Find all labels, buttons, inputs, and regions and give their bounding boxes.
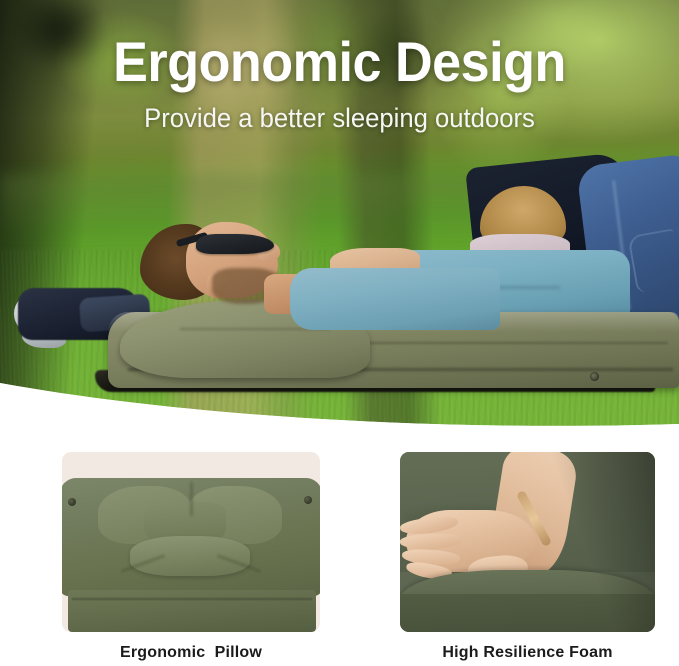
page-title: Ergonomic Design xyxy=(24,34,655,90)
pillow-grommet-left xyxy=(68,498,76,506)
page-subtitle: Provide a better sleeping outdoors xyxy=(17,102,662,134)
pillow-base-seam xyxy=(72,598,312,600)
pillow-grommet-right xyxy=(304,496,312,504)
caption-ergonomic-pillow: Ergonomic Pillow xyxy=(62,640,320,666)
pillow-neck-roll xyxy=(130,536,250,576)
caption-high-resilience-foam: High Resilience Foam xyxy=(400,640,655,666)
pillow-base xyxy=(68,590,316,632)
panel-high-resilience-foam[interactable] xyxy=(400,452,655,632)
feature-panels: Ergonomic Pillow High Resilience Foam xyxy=(0,440,679,662)
pillow-crease-center xyxy=(190,482,193,516)
hero-banner: Ergonomic Design Provide a better sleepi… xyxy=(0,0,679,430)
foam-shadow-overlay xyxy=(550,452,655,632)
panel-ergonomic-pillow[interactable] xyxy=(62,452,320,632)
